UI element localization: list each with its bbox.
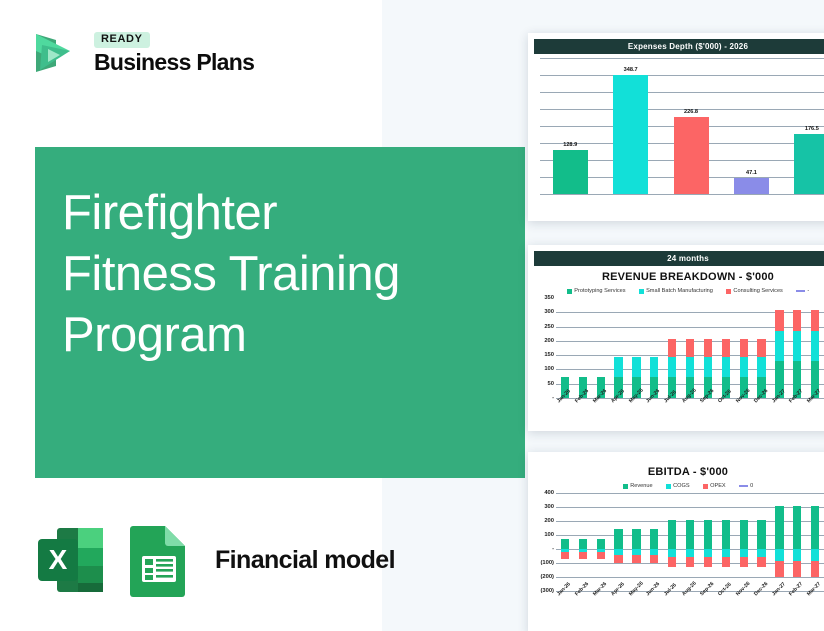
gridline	[540, 194, 824, 195]
stacked-bar[interactable]	[740, 298, 748, 398]
page-title: Firefighter Fitness Training Program	[62, 183, 512, 365]
legend-label: Small Batch Manufacturing	[646, 288, 713, 294]
legend-color-swatch	[639, 289, 644, 294]
legend-item: Small Batch Manufacturing	[639, 288, 713, 294]
bar-value-label: 226.8	[684, 109, 698, 115]
bar-segment[interactable]	[668, 339, 676, 356]
chart-title-revenue: REVENUE BREAKDOWN - $'000	[528, 271, 824, 283]
y-axis-tick: 300	[544, 309, 554, 315]
bar-slot[interactable]	[771, 298, 789, 398]
bar-segment[interactable]	[757, 357, 765, 377]
bar-segment[interactable]	[793, 310, 801, 331]
financial-model-label: Financial model	[215, 546, 395, 575]
chart-card-expenses[interactable]: Expenses Depth ($'000) - 2026 128.9348.7…	[528, 33, 824, 221]
chart-plot-ebitda: 400300200100-(100)(200)(300)	[534, 493, 824, 591]
y-axis-tick: 350	[544, 295, 554, 301]
stacked-bar[interactable]	[597, 298, 605, 398]
legend-color-swatch	[623, 484, 628, 489]
bar[interactable]: 348.7	[613, 75, 648, 194]
legend-label: 0	[750, 483, 753, 489]
legend-line-swatch	[796, 290, 805, 292]
chart-xaxis-ebitda: Jan-26Feb-26Mar-26Apr-26May-26Jun-26Jul-…	[534, 591, 824, 617]
bar-segment[interactable]	[811, 331, 819, 361]
bar-slot[interactable]	[681, 298, 699, 398]
chart-banner-expenses: Expenses Depth ($'000) - 2026	[534, 39, 824, 54]
bar-segment[interactable]	[722, 339, 730, 356]
x-axis-labels: Jan-26Feb-26Mar-26Apr-26May-26Jun-26Jul-…	[556, 591, 824, 599]
play-logo-icon	[26, 26, 80, 80]
stacked-bar[interactable]	[722, 298, 730, 398]
legend-label: OPEX	[710, 483, 726, 489]
google-sheets-icon	[125, 523, 193, 597]
bar-segment[interactable]	[775, 331, 783, 361]
legend-line-swatch	[739, 485, 748, 487]
y-axis-tick: 400	[544, 490, 554, 496]
bar[interactable]: 128.9	[553, 150, 588, 194]
chart-card-ebitda[interactable]: EBITDA - $'000 RevenueCOGSOPEX0 40030020…	[528, 452, 824, 631]
y-axis-tick: (100)	[540, 560, 554, 566]
chart-card-revenue[interactable]: 24 months REVENUE BREAKDOWN - $'000 Prot…	[528, 245, 824, 431]
chart-xaxis-revenue: Jan-26Feb-26Mar-26Apr-26May-26Jun-26Jul-…	[534, 398, 824, 424]
y-axis-tick: 150	[544, 352, 554, 358]
svg-text:X: X	[49, 544, 68, 575]
bar-segment[interactable]	[811, 310, 819, 331]
bar-group	[556, 298, 824, 398]
stacked-bar[interactable]	[793, 298, 801, 398]
legend-color-swatch	[666, 484, 671, 489]
bar-value-label: 348.7	[624, 67, 638, 73]
bar-slot[interactable]	[574, 298, 592, 398]
bar-slot[interactable]: 348.7	[600, 58, 660, 194]
y-axis-tick: -	[552, 546, 554, 552]
chart-legend-revenue: Prototyping ServicesSmall Batch Manufact…	[528, 288, 824, 294]
legend-item: Prototyping Services	[567, 288, 626, 294]
ready-badge: READY	[94, 32, 150, 48]
bar-slot[interactable]: 176.5	[782, 58, 824, 194]
bar-segment[interactable]	[686, 339, 694, 356]
bar-segment[interactable]	[686, 357, 694, 377]
y-axis-tick: 200	[544, 518, 554, 524]
bar-slot[interactable]	[645, 298, 663, 398]
bar[interactable]: 47.1	[734, 178, 769, 194]
chart-grid	[556, 298, 824, 398]
stacked-bar[interactable]	[811, 298, 819, 398]
bar-segment[interactable]	[650, 357, 658, 377]
chart-plot-revenue: 35030025020015010050-	[534, 298, 824, 398]
bar-slot[interactable]	[788, 298, 806, 398]
bar-slot[interactable]	[806, 298, 824, 398]
legend-label: Prototyping Services	[574, 288, 625, 294]
chart-grid: 128.9348.7226.847.1176.5	[540, 58, 824, 194]
page-title-line-2: Fitness Training	[62, 244, 512, 305]
y-axis-tick: 100	[544, 532, 554, 538]
page-title-line-3: Program	[62, 305, 512, 366]
bar-slot[interactable]	[592, 298, 610, 398]
bar-group: 128.9348.7226.847.1176.5	[540, 58, 824, 194]
stacked-bar[interactable]	[614, 298, 622, 398]
legend-color-swatch	[703, 484, 708, 489]
stacked-bar[interactable]	[650, 298, 658, 398]
stacked-bar[interactable]	[632, 298, 640, 398]
chart-grid	[556, 493, 824, 591]
stacked-bar[interactable]	[757, 298, 765, 398]
y-axis-tick: 200	[544, 338, 554, 344]
hero-title-block: Firefighter Fitness Training Program	[35, 147, 525, 478]
legend-item: Consulting Services	[726, 288, 783, 294]
bar-segment[interactable]	[668, 357, 676, 377]
chart-banner-revenue: 24 months	[534, 251, 824, 266]
bar[interactable]: 176.5	[794, 134, 824, 194]
chart-title-ebitda: EBITDA - $'000	[528, 466, 824, 478]
x-axis-labels: Jan-26Feb-26Mar-26Apr-26May-26Jun-26Jul-…	[556, 398, 824, 406]
bar-value-label: 47.1	[746, 170, 757, 176]
y-axis-tick: 50	[548, 381, 554, 387]
bar-slot[interactable]	[610, 298, 628, 398]
y-axis-tick: (200)	[540, 574, 554, 580]
footer-formats: X Financial model	[33, 522, 395, 598]
bar[interactable]: 226.8	[674, 117, 709, 194]
bar-segment[interactable]	[793, 331, 801, 361]
y-axis-tick: 300	[544, 504, 554, 510]
y-axis-tick: 100	[544, 366, 554, 372]
microsoft-excel-icon: X	[33, 522, 109, 598]
bar-slot[interactable]	[753, 298, 771, 398]
stacked-bar[interactable]	[686, 298, 694, 398]
poster-canvas: READY Business Plans Firefighter Fitness…	[0, 0, 824, 631]
legend-color-swatch	[567, 289, 572, 294]
bar-slot[interactable]	[717, 298, 735, 398]
bar-slot[interactable]	[628, 298, 646, 398]
stacked-bar[interactable]	[561, 298, 569, 398]
bar-segment[interactable]	[740, 357, 748, 377]
y-axis: 400300200100-(100)(200)(300)	[534, 493, 556, 591]
bar-segment[interactable]	[757, 339, 765, 356]
legend-color-swatch	[726, 289, 731, 294]
legend-item: COGS	[666, 483, 690, 489]
bar-segment[interactable]	[775, 310, 783, 331]
stacked-bar[interactable]	[668, 298, 676, 398]
bar-slot[interactable]	[735, 298, 753, 398]
y-axis: 35030025020015010050-	[534, 298, 556, 398]
legend-label: COGS	[673, 483, 689, 489]
legend-label: Consulting Services	[733, 288, 782, 294]
stacked-bar[interactable]	[579, 298, 587, 398]
bar-segment[interactable]	[704, 357, 712, 377]
bar-slot[interactable]: 128.9	[540, 58, 600, 194]
bar-slot[interactable]	[663, 298, 681, 398]
page-title-line-1: Firefighter	[62, 183, 512, 244]
y-axis-tick: 250	[544, 324, 554, 330]
chart-plot-expenses: 128.9348.7226.847.1176.5	[534, 58, 824, 194]
legend-label: Revenue	[630, 483, 652, 489]
bar-slot[interactable]	[699, 298, 717, 398]
stacked-bar[interactable]	[775, 298, 783, 398]
bar-slot[interactable]: 226.8	[661, 58, 721, 194]
legend-item: Revenue	[623, 483, 653, 489]
bar-segment[interactable]	[722, 357, 730, 377]
legend-item: OPEX	[703, 483, 726, 489]
legend-item: -	[796, 288, 809, 294]
bar-segment[interactable]	[704, 339, 712, 356]
bar-segment[interactable]	[740, 339, 748, 356]
chart-legend-ebitda: RevenueCOGSOPEX0	[528, 483, 824, 489]
brand-lockup: READY Business Plans	[26, 26, 254, 80]
bar-value-label: 176.5	[805, 126, 819, 132]
legend-item: 0	[739, 483, 754, 489]
bar-segment[interactable]	[632, 357, 640, 377]
bar-value-label: 128.9	[563, 142, 577, 148]
legend-label: -	[807, 288, 809, 294]
bar-slot[interactable]: 47.1	[721, 58, 781, 194]
bar-slot[interactable]	[556, 298, 574, 398]
stacked-bar[interactable]	[704, 298, 712, 398]
brand-name: Business Plans	[94, 51, 254, 74]
bar-segment[interactable]	[614, 357, 622, 377]
